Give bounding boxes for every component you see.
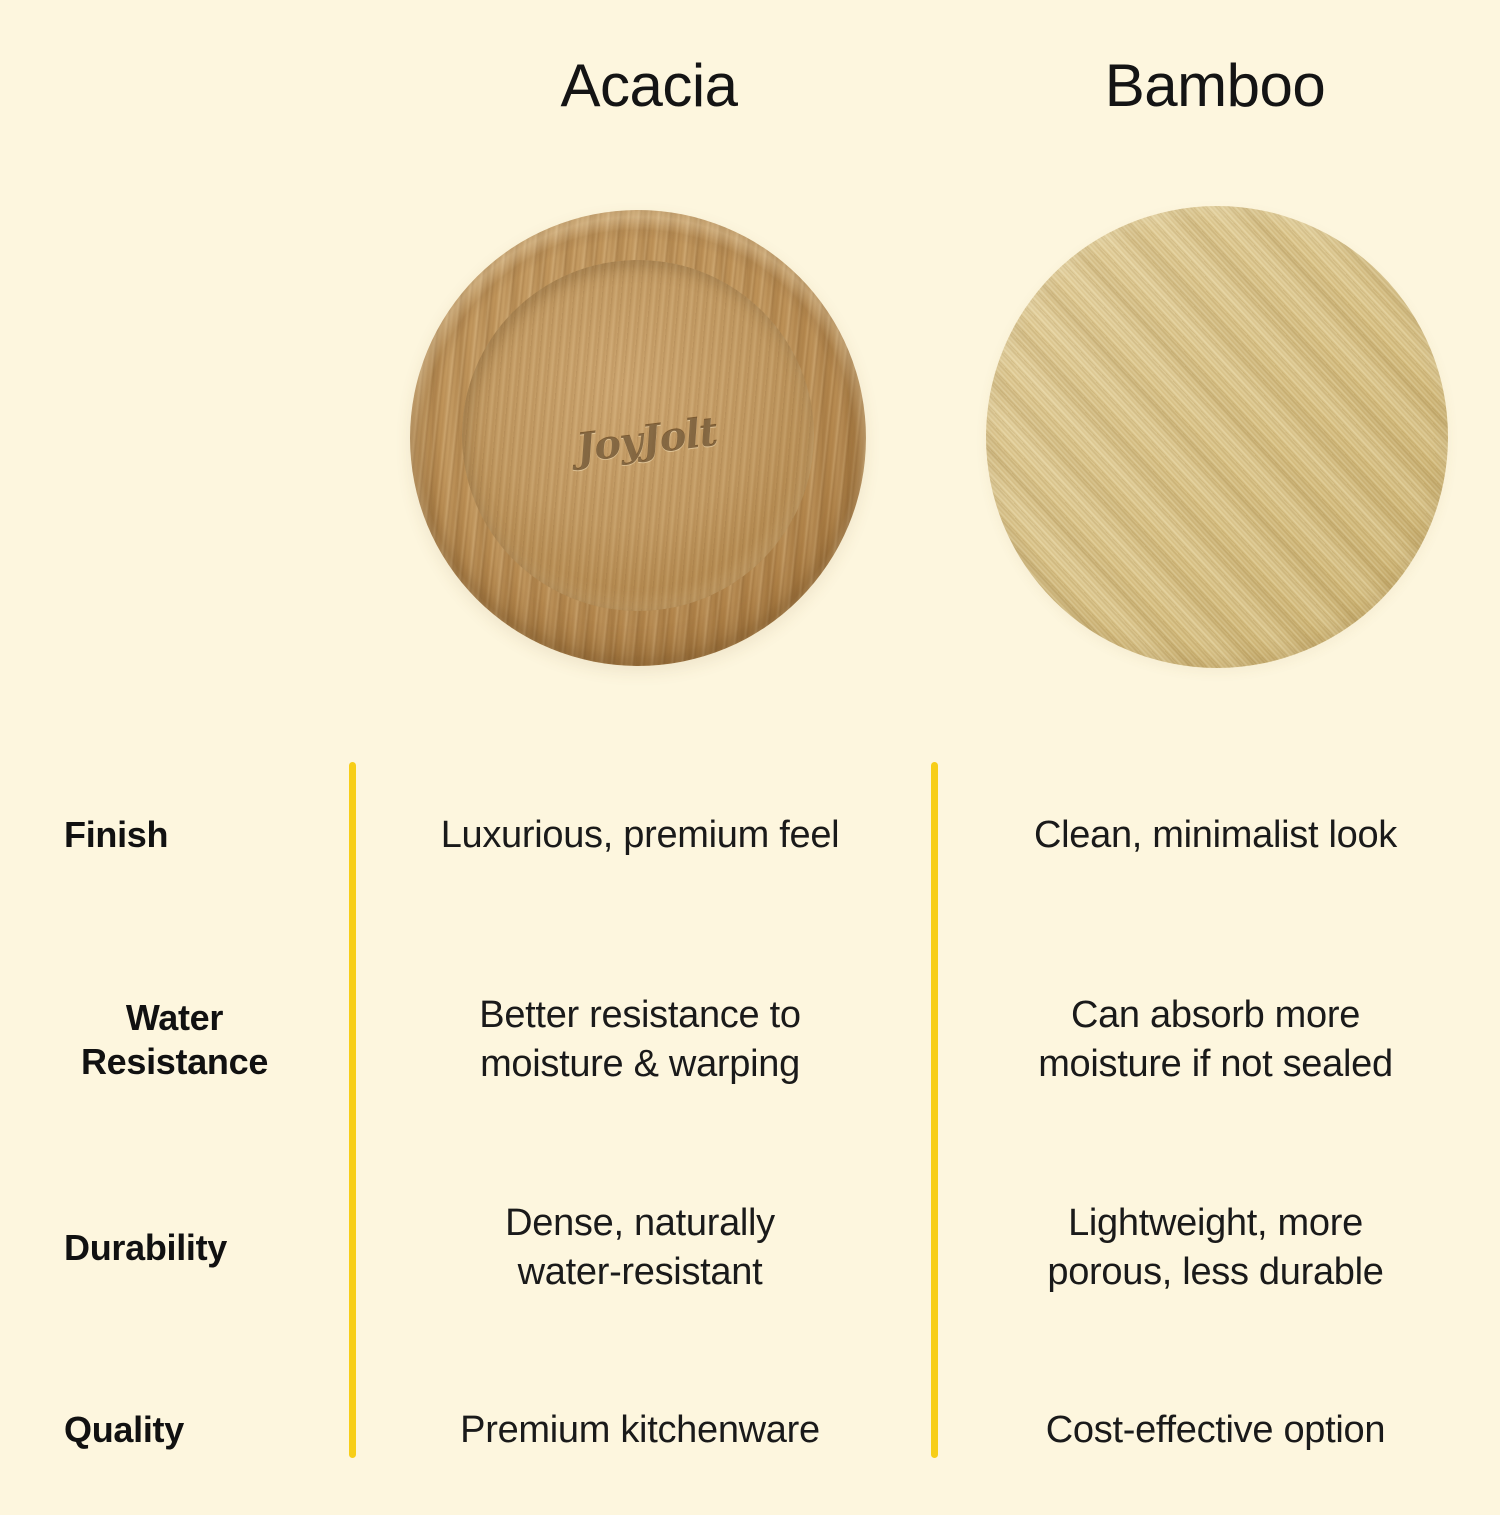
cell-acacia-water-resistance: Better resistance to moisture & warping xyxy=(349,991,931,1088)
cell-line: Can absorb more xyxy=(957,991,1474,1040)
column-header-acacia: Acacia xyxy=(349,56,949,116)
column-header-bamboo: Bamboo xyxy=(935,56,1495,116)
label-line: Water xyxy=(126,997,223,1038)
cell-line: moisture if not sealed xyxy=(957,1040,1474,1089)
acacia-plate-image: JoyJolt xyxy=(410,210,866,666)
cell-line: Premium kitchenware xyxy=(383,1406,897,1455)
row-label-durability: Durability xyxy=(0,1226,349,1270)
cell-line: water-resistant xyxy=(383,1248,897,1297)
product-image-area: JoyJolt xyxy=(0,180,1500,700)
row-label-water-resistance: Water Resistance xyxy=(0,996,349,1084)
cell-line: Better resistance to xyxy=(383,991,897,1040)
cell-bamboo-durability: Lightweight, more porous, less durable xyxy=(931,1199,1500,1296)
cell-line: moisture & warping xyxy=(383,1040,897,1089)
table-row: Durability Dense, naturally water-resist… xyxy=(0,1150,1500,1345)
cell-line: Clean, minimalist look xyxy=(957,811,1474,860)
acacia-plate-well xyxy=(462,260,813,611)
cell-bamboo-finish: Clean, minimalist look xyxy=(931,811,1500,860)
label-line: Resistance xyxy=(81,1041,268,1082)
comparison-infographic: Acacia Bamboo JoyJolt Finish Luxurious, … xyxy=(0,0,1500,1500)
table-row: Quality Premium kitchenware Cost-effecti… xyxy=(0,1345,1500,1515)
cell-line: Dense, naturally xyxy=(383,1199,897,1248)
row-label-quality: Quality xyxy=(0,1408,349,1452)
cell-acacia-quality: Premium kitchenware xyxy=(349,1406,931,1455)
table-row: Water Resistance Better resistance to mo… xyxy=(0,930,1500,1150)
cell-line: Luxurious, premium feel xyxy=(383,811,897,860)
cell-line: Cost-effective option xyxy=(957,1406,1474,1455)
row-label-finish: Finish xyxy=(0,813,349,857)
table-row: Finish Luxurious, premium feel Clean, mi… xyxy=(0,740,1500,930)
cell-line: porous, less durable xyxy=(957,1248,1474,1297)
cell-bamboo-quality: Cost-effective option xyxy=(931,1406,1500,1455)
bamboo-plate-image xyxy=(986,206,1448,668)
cell-bamboo-water-resistance: Can absorb more moisture if not sealed xyxy=(931,991,1500,1088)
cell-line: Lightweight, more xyxy=(957,1199,1474,1248)
cell-acacia-finish: Luxurious, premium feel xyxy=(349,811,931,860)
cell-acacia-durability: Dense, naturally water-resistant xyxy=(349,1199,931,1296)
